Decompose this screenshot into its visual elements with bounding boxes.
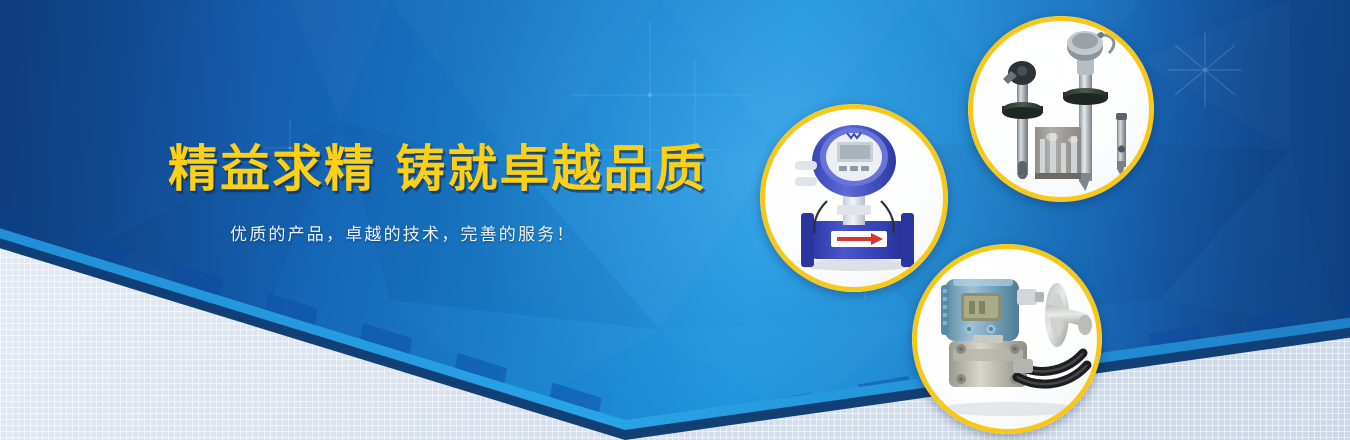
bubble-inner-2 xyxy=(973,21,1149,197)
electromagnetic-flowmeter-illustration xyxy=(765,109,943,287)
banner-copy: 精益求精 铸就卓越品质 优质的产品，卓越的技术，完善的服务！ xyxy=(168,142,688,245)
bubble-inner-1 xyxy=(765,109,943,287)
product-image-electromagnetic-flowmeter[interactable] xyxy=(760,104,948,292)
product-image-thermocouple-probes[interactable] xyxy=(968,16,1154,202)
banner-subtitle: 优质的产品，卓越的技术，完善的服务！ xyxy=(168,220,688,245)
bubble-inner-3 xyxy=(917,249,1097,429)
promo-banner: 精益求精 铸就卓越品质 优质的产品，卓越的技术，完善的服务！ xyxy=(0,0,1350,440)
page-title: 精益求精 铸就卓越品质 xyxy=(168,142,688,196)
product-image-pressure-transmitter[interactable] xyxy=(912,244,1102,434)
thermocouple-probes-illustration xyxy=(973,21,1149,197)
pressure-transmitter-illustration xyxy=(917,249,1097,429)
